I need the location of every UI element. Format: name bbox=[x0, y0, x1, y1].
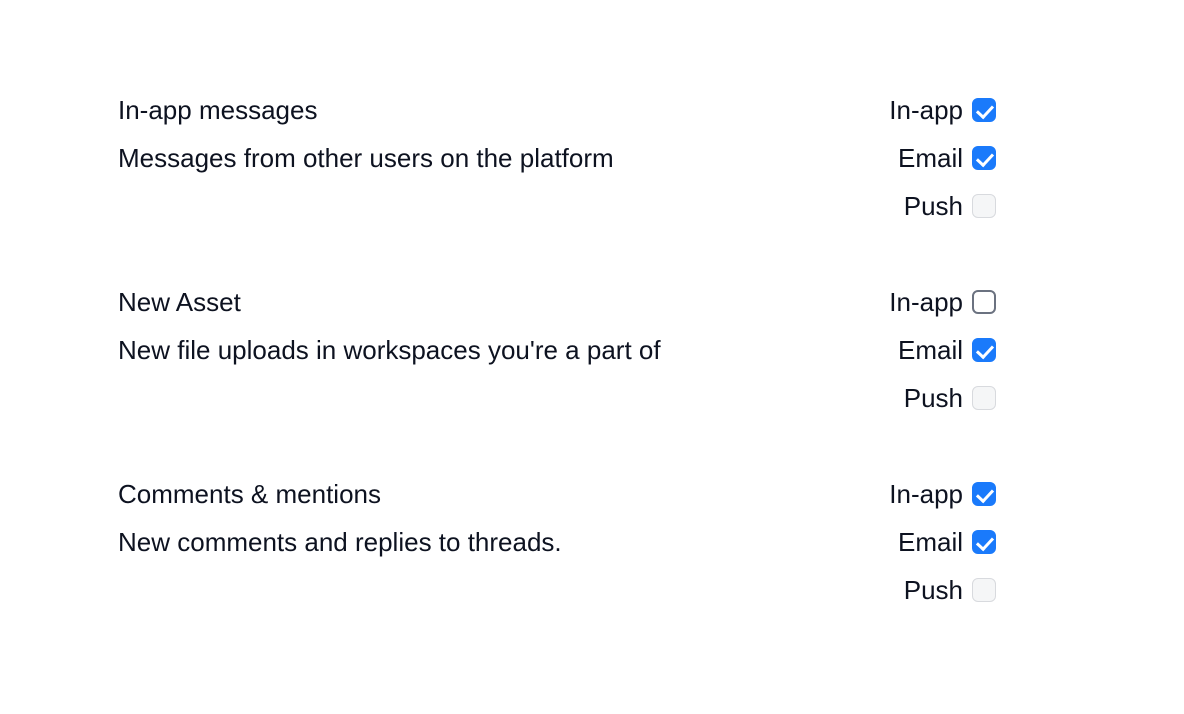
channel-row-in-app[interactable]: In-app bbox=[858, 86, 996, 134]
channel-label-push: Push bbox=[904, 374, 972, 422]
channel-row-push: Push bbox=[858, 374, 996, 422]
channel-label-email: Email bbox=[898, 134, 972, 182]
notification-title: Comments & mentions bbox=[118, 470, 858, 518]
checkbox-email[interactable] bbox=[972, 146, 996, 170]
checkbox-email[interactable] bbox=[972, 338, 996, 362]
checkbox-email[interactable] bbox=[972, 530, 996, 554]
checkbox-push bbox=[972, 578, 996, 602]
channel-label-in-app: In-app bbox=[889, 86, 972, 134]
channel-label-push: Push bbox=[904, 182, 972, 230]
notification-group-text: In-app messages Messages from other user… bbox=[118, 86, 858, 182]
notification-preferences-panel: In-app messages Messages from other user… bbox=[118, 86, 996, 614]
channel-row-in-app[interactable]: In-app bbox=[858, 278, 996, 326]
notification-description: Messages from other users on the platfor… bbox=[118, 134, 858, 182]
channel-row-push: Push bbox=[858, 566, 996, 614]
notification-group-text: Comments & mentions New comments and rep… bbox=[118, 470, 858, 566]
notification-description: New file uploads in workspaces you're a … bbox=[118, 326, 858, 374]
channel-row-in-app[interactable]: In-app bbox=[858, 470, 996, 518]
notification-group: New Asset New file uploads in workspaces… bbox=[118, 278, 996, 422]
channel-row-email[interactable]: Email bbox=[858, 134, 996, 182]
checkbox-in-app[interactable] bbox=[972, 482, 996, 506]
checkbox-in-app[interactable] bbox=[972, 290, 996, 314]
channel-row-push: Push bbox=[858, 182, 996, 230]
channel-list: In-app Email Push bbox=[858, 278, 996, 422]
notification-group: Comments & mentions New comments and rep… bbox=[118, 470, 996, 614]
channel-label-email: Email bbox=[898, 326, 972, 374]
channel-row-email[interactable]: Email bbox=[858, 518, 996, 566]
notification-description: New comments and replies to threads. bbox=[118, 518, 858, 566]
notification-title: In-app messages bbox=[118, 86, 858, 134]
checkbox-push bbox=[972, 194, 996, 218]
notification-group: In-app messages Messages from other user… bbox=[118, 86, 996, 230]
notification-group-text: New Asset New file uploads in workspaces… bbox=[118, 278, 858, 374]
channel-label-in-app: In-app bbox=[889, 470, 972, 518]
channel-label-email: Email bbox=[898, 518, 972, 566]
channel-row-email[interactable]: Email bbox=[858, 326, 996, 374]
channel-label-in-app: In-app bbox=[889, 278, 972, 326]
channel-label-push: Push bbox=[904, 566, 972, 614]
channel-list: In-app Email Push bbox=[858, 86, 996, 230]
checkbox-in-app[interactable] bbox=[972, 98, 996, 122]
checkbox-push bbox=[972, 386, 996, 410]
channel-list: In-app Email Push bbox=[858, 470, 996, 614]
notification-title: New Asset bbox=[118, 278, 858, 326]
